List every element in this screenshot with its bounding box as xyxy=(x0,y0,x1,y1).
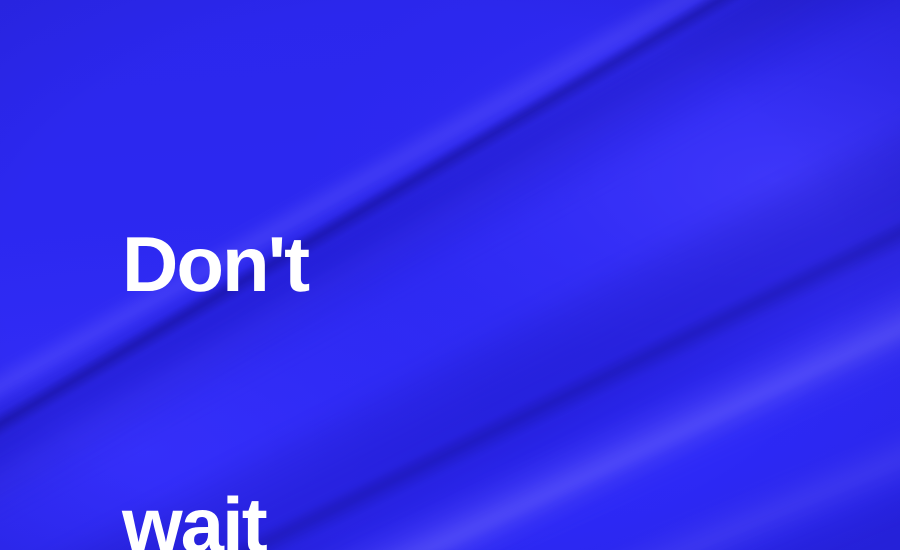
promo-banner: Don't wait to invest in your future xyxy=(0,0,900,550)
headline-line-2: wait xyxy=(122,482,425,550)
headline: Don't wait to invest in your future xyxy=(122,47,425,550)
headline-line-1: Don't xyxy=(122,221,425,308)
